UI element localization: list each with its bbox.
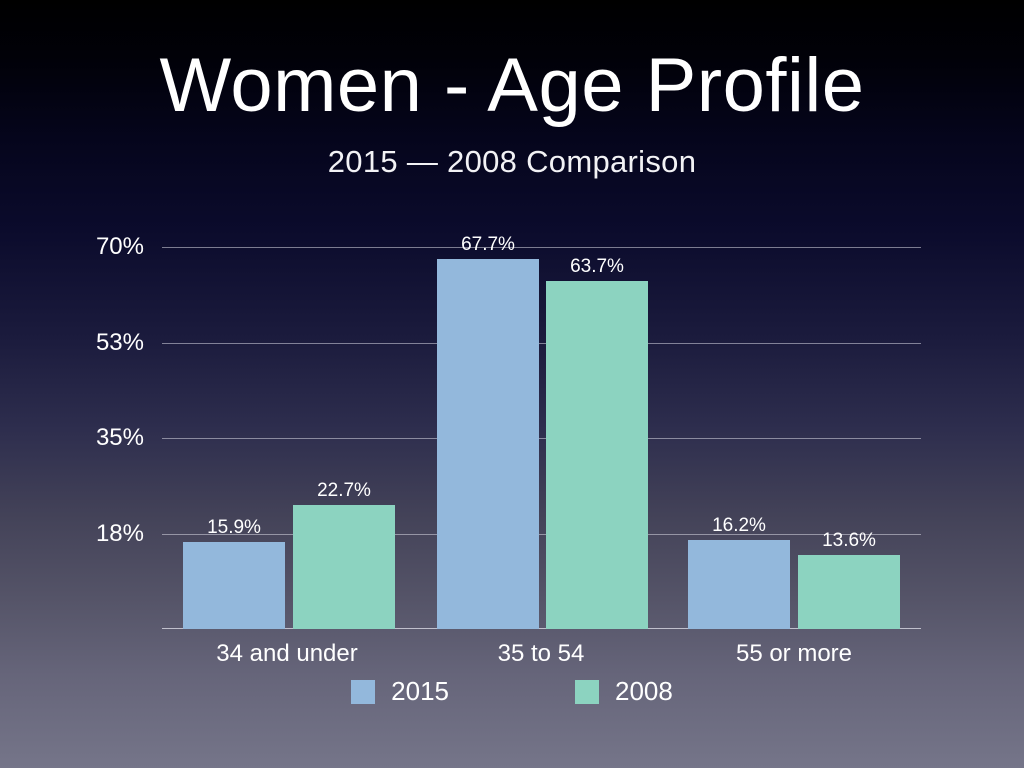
chart-plot-area: 15.9% 22.7% 67.7% 63.7% 16.2% 13.6%	[162, 247, 921, 629]
y-axis-labels: 70% 53% 35% 18%	[0, 247, 162, 629]
bar-2008-55-or-more[interactable]	[798, 555, 900, 629]
bar-label-2008-35-to-54: 63.7%	[517, 256, 677, 278]
y-tick-label-70: 70%	[96, 233, 144, 261]
gridline-53	[162, 343, 921, 344]
page-title: Women - Age Profile	[0, 48, 1024, 124]
square-swatch-icon	[575, 680, 599, 704]
x-axis-category-labels: 34 and under 35 to 54 55 or more	[162, 640, 921, 672]
legend-label-2015: 2015	[391, 676, 449, 707]
bar-2008-34-and-under[interactable]	[293, 505, 395, 629]
bar-2015-55-or-more[interactable]	[688, 540, 790, 629]
gridline-35	[162, 438, 921, 439]
square-swatch-icon	[351, 680, 375, 704]
y-tick-label-35: 35%	[96, 424, 144, 452]
bar-2008-35-to-54[interactable]	[546, 281, 648, 629]
bar-label-2008-55-or-more: 13.6%	[769, 530, 929, 552]
page-subtitle: 2015 — 2008 Comparison	[0, 144, 1024, 180]
bar-label-2015-34-and-under: 15.9%	[154, 517, 314, 539]
x-category-label-2: 55 or more	[674, 640, 914, 668]
x-category-label-1: 35 to 54	[421, 640, 661, 668]
legend-item-2015[interactable]: 2015	[351, 676, 449, 707]
bar-2015-35-to-54[interactable]	[437, 259, 539, 629]
legend-item-2008[interactable]: 2008	[575, 676, 673, 707]
y-tick-label-18: 18%	[96, 520, 144, 548]
chart-legend: 2015 2008	[0, 676, 1024, 707]
x-category-label-0: 34 and under	[167, 640, 407, 668]
bar-label-2015-35-to-54: 67.7%	[408, 234, 568, 256]
legend-label-2008: 2008	[615, 676, 673, 707]
bar-label-2008-34-and-under: 22.7%	[264, 480, 424, 502]
title-block: Women - Age Profile 2015 — 2008 Comparis…	[0, 48, 1024, 180]
y-tick-label-53: 53%	[96, 329, 144, 357]
bar-2015-34-and-under[interactable]	[183, 542, 285, 629]
